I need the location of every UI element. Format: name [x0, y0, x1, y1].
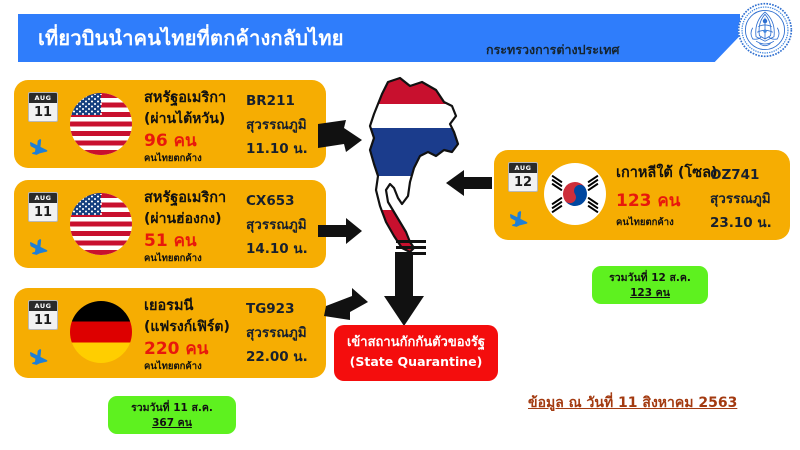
arrow-map-to-quarantine	[382, 252, 426, 330]
calendar-month: AUG	[509, 163, 537, 173]
arrow-oz741-to-map	[442, 168, 494, 198]
total-box-aug-12: รวมวันที่ 12 ส.ค. 123 คน	[592, 266, 708, 304]
calendar-month: AUG	[29, 301, 57, 311]
calendar-day: 11	[29, 203, 57, 222]
flight-card-cx653[interactable]: AUG 11 สหรัฐอเมริกา (ผ่านฮ่องกง) 51 คน ค…	[14, 180, 326, 268]
stranded-label: คนไทยตกค้าง	[144, 252, 202, 266]
state-quarantine-box: เข้าสถานกักกันตัวของรัฐ (State Quarantin…	[334, 325, 498, 381]
arrival-airport: สุวรรณภูมิ	[710, 190, 771, 209]
country-name: เกาหลีใต้ (โซล)	[616, 163, 718, 184]
calendar-month: AUG	[29, 93, 57, 103]
passenger-count: 123 คน	[616, 190, 680, 212]
country-via: (แฟรงก์เฟิร์ต)	[144, 317, 230, 337]
flight-number: TG923	[246, 300, 294, 319]
arrow-tg923-to-map	[322, 284, 370, 324]
quarantine-thai-label: เข้าสถานกักกันตัวของรัฐ	[334, 333, 498, 352]
calendar-month: AUG	[29, 193, 57, 203]
total-count-value: 367 คน	[108, 416, 236, 431]
calendar-icon: AUG 12	[508, 162, 538, 192]
country-name: สหรัฐอเมริกา	[144, 188, 226, 209]
passenger-count: 220 คน	[144, 338, 208, 360]
arrival-airport: สุวรรณภูมิ	[246, 324, 307, 343]
arrow-cx653-to-map	[316, 216, 364, 246]
country-name: สหรัฐอเมริกา	[144, 88, 226, 109]
calendar-icon: AUG 11	[28, 92, 58, 122]
us-flag-icon	[70, 93, 132, 155]
quarantine-english-label: (State Quarantine)	[334, 352, 498, 371]
arrival-time: 23.10 น.	[710, 214, 772, 233]
kr-flag-icon	[544, 163, 606, 225]
country-name: เยอรมนี	[144, 296, 193, 317]
thailand-map	[352, 72, 480, 258]
arrow-br211-to-map	[316, 118, 364, 156]
flight-number: CX653	[246, 192, 295, 211]
calendar-day: 11	[29, 311, 57, 330]
arrival-time: 22.00 น.	[246, 348, 308, 367]
total-date-label: รวมวันที่ 11 ส.ค.	[108, 401, 236, 416]
calendar-day: 11	[29, 103, 57, 122]
flight-number: OZ741	[710, 166, 759, 185]
stranded-label: คนไทยตกค้าง	[144, 152, 202, 166]
arrival-time: 14.10 น.	[246, 240, 308, 259]
flight-card-oz741[interactable]: AUG 12 เกาหลีใต้ (โซล) 123 คน คนไทยตกค้า…	[494, 150, 790, 240]
data-as-of-label: ข้อมูล ณ วันที่ 11 สิงหาคม 2563	[528, 392, 737, 414]
country-via: (ผ่านฮ่องกง)	[144, 209, 222, 229]
stranded-label: คนไทยตกค้าง	[616, 216, 674, 230]
arrival-airport: สุวรรณภูมิ	[246, 216, 307, 235]
passenger-count: 96 คน	[144, 130, 197, 152]
calendar-icon: AUG 11	[28, 192, 58, 222]
infographic-root: เที่ยวบินนำคนไทยที่ตกค้างกลับไทย กระทรวง…	[0, 0, 800, 450]
airplane-icon	[506, 208, 532, 230]
country-via: (ผ่านไต้หวัน)	[144, 109, 225, 129]
calendar-day: 12	[509, 173, 537, 192]
de-flag-icon	[70, 301, 132, 363]
flight-number: BR211	[246, 92, 295, 111]
total-date-label: รวมวันที่ 12 ส.ค.	[592, 271, 708, 286]
ministry-emblem-icon	[737, 2, 793, 58]
flight-card-tg923[interactable]: AUG 11 เยอรมนี (แฟรงก์เฟิร์ต) 220 คน คนไ…	[14, 288, 326, 378]
total-count-value: 123 คน	[592, 286, 708, 301]
airplane-icon	[26, 236, 52, 258]
ministry-label: กระทรวงการต่างประเทศ	[486, 40, 619, 60]
calendar-icon: AUG 11	[28, 300, 58, 330]
airplane-icon	[26, 136, 52, 158]
arrival-time: 11.10 น.	[246, 140, 308, 159]
stranded-label: คนไทยตกค้าง	[144, 360, 202, 374]
passenger-count: 51 คน	[144, 230, 197, 252]
flight-card-br211[interactable]: AUG 11 สหรัฐอเมริกา (ผ่านไต้หวัน) 96 คน …	[14, 80, 326, 168]
page-title: เที่ยวบินนำคนไทยที่ตกค้างกลับไทย	[38, 22, 344, 54]
total-box-aug-11: รวมวันที่ 11 ส.ค. 367 คน	[108, 396, 236, 434]
us-flag-icon	[70, 193, 132, 255]
airplane-icon	[26, 346, 52, 368]
arrival-airport: สุวรรณภูมิ	[246, 116, 307, 135]
